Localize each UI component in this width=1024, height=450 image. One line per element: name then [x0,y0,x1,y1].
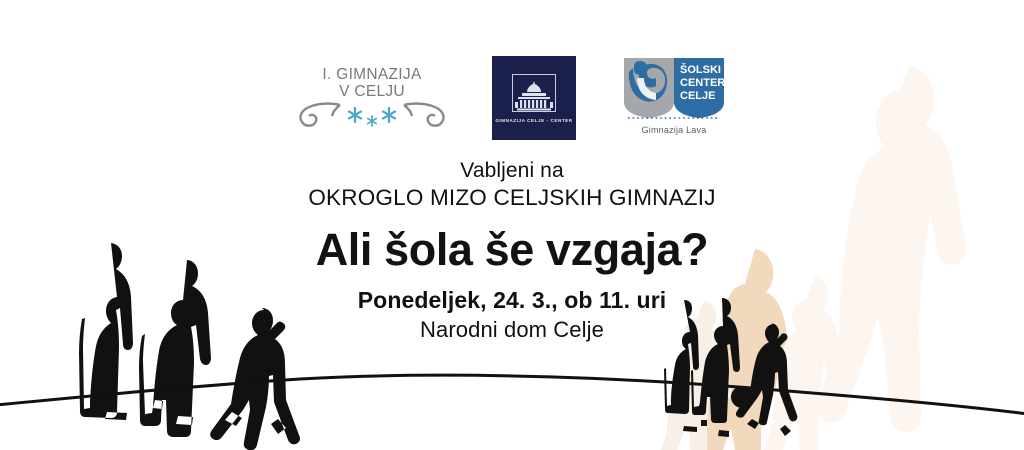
ground-line [0,375,1024,414]
svg-text:CELJE: CELJE [680,90,715,102]
logo-i-gimnazija-v-celju: I. GIMNAZIJA V CELJU [296,56,448,138]
event-date-line: Ponedeljek, 24. 3., ob 11. uri [0,286,1024,315]
logo-solski-center-celje: ŠOLSKI CENTER CELJE Gimnazija Lava [620,56,728,146]
ionic-scroll-ornament-icon [296,99,448,133]
logo-gimnazija-celje-center: GIMNAZIJA CELJE - CENTER [492,56,576,140]
logo-gcc-caption: GIMNAZIJA CELJE - CENTER [495,118,572,123]
snowflake-icons [349,108,395,126]
svg-text:ŠOLSKI: ŠOLSKI [680,63,721,76]
svg-text:CENTER: CENTER [680,77,725,89]
gcc-emblem-frame [512,74,556,112]
invitation-line-2: OKROGLO MIZO CELJSKIH GIMNAZIJ [0,184,1024,212]
poster-headline: Ali šola še vzgaja? [0,223,1024,277]
logo-row: I. GIMNAZIJA V CELJU [0,56,1024,156]
poster-text-block: Vabljeni na OKROGLO MIZO CELJSKIH GIMNAZ… [0,158,1024,344]
logo-scc-caption: Gimnazija Lava [642,125,707,135]
logo-i-gimnazija-text: I. GIMNAZIJA V CELJU [296,66,448,100]
shield-monogram-icon: ŠOLSKI CENTER CELJE [620,56,728,120]
logo-i-gimnazija-line1: I. GIMNAZIJA [322,66,421,83]
poster-canvas: I. GIMNAZIJA V CELJU [0,0,1024,450]
invitation-line-1: Vabljeni na [0,158,1024,184]
domed-building-icon [514,80,554,111]
event-venue-line: Narodni dom Celje [0,315,1024,344]
logo-i-gimnazija-line2: V CELJU [296,83,448,100]
ball-icon [731,386,753,408]
